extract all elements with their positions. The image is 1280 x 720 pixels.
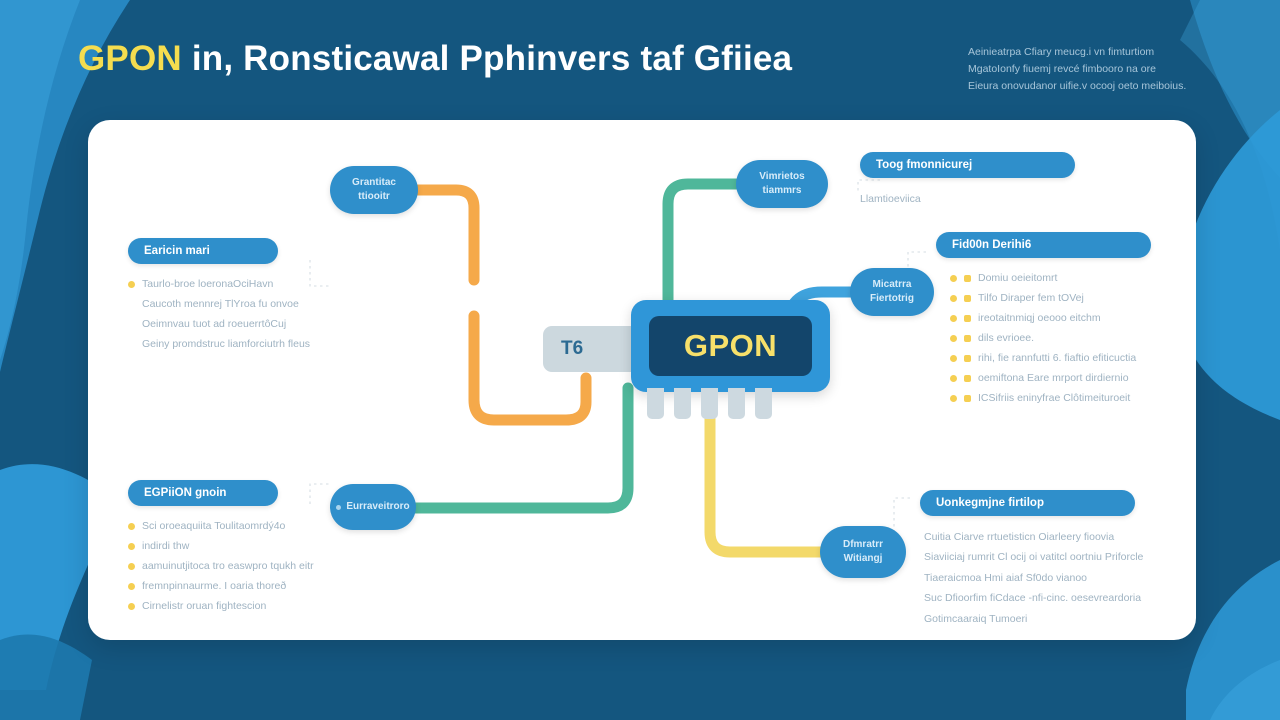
card-line-text: Tilfo Diraper fem tOVej bbox=[978, 289, 1084, 309]
card-top-right-heading: Fid00n Derihi6 bbox=[936, 232, 1151, 258]
card-line: indirdi thw bbox=[128, 537, 314, 557]
page-title: GPON in, Ronsticawal Pphinvers taf Gfiie… bbox=[78, 38, 938, 80]
diagram-panel: Earicin mari Taurlo-broe loeronaOciHavn … bbox=[88, 120, 1196, 640]
node-top-line-1: Vimrietos bbox=[759, 170, 804, 185]
card-line-text: Taurlo-broe loeronaOciHavn bbox=[142, 275, 273, 295]
card-line-text: rihi, fie rannfutti 6. fiaftio efiticuct… bbox=[978, 349, 1136, 369]
node-top-line-2: tiammrs bbox=[763, 184, 802, 199]
bullet-square-icon bbox=[964, 355, 971, 362]
card-line: Taurlo-broe loeronaOciHavn bbox=[128, 275, 310, 295]
card-line-text: indirdi thw bbox=[142, 537, 189, 557]
card-line: aamuinutjitoca tro easwpro tqukh eitr bbox=[128, 557, 314, 577]
dotted-card-bottom-right bbox=[894, 498, 910, 536]
bullet-dot-icon bbox=[950, 275, 957, 282]
node-bottom-right[interactable]: Dfmratrr Witiangj bbox=[820, 526, 906, 578]
device-screen-label: GPON bbox=[684, 328, 777, 364]
card-line-text: Suc Dfioorfim fiCdace -nfi-cinc. oesevre… bbox=[924, 588, 1143, 608]
device-port bbox=[755, 388, 772, 419]
node-bottom-left[interactable]: Eurraveitroro bbox=[330, 484, 416, 530]
card-top-left-body: Taurlo-broe loeronaOciHavn Caucoth mennr… bbox=[128, 275, 310, 355]
bullet-square-icon bbox=[964, 275, 971, 282]
card-line-text: aamuinutjitoca tro easwpro tqukh eitr bbox=[142, 557, 314, 577]
card-line: ireotaitnmiqj oeooo eitchm bbox=[950, 309, 1151, 329]
device-ports bbox=[647, 388, 772, 419]
page-title-rest: in, Ronsticawal Pphinvers taf Gfiiea bbox=[192, 39, 792, 78]
card-top-far-body: Llamtioeviica bbox=[860, 189, 1075, 209]
bullet-dot-icon bbox=[128, 543, 135, 550]
card-line-text: Caucoth mennrej TlYroa fu onvoe bbox=[142, 295, 299, 315]
card-top-far[interactable]: Toog fmonnicurej Llamtioeviica bbox=[860, 152, 1075, 209]
bullet-dot-icon bbox=[950, 295, 957, 302]
card-top-left-heading: Earicin mari bbox=[128, 238, 278, 264]
node-right-line-1: Micatrra bbox=[873, 278, 912, 293]
card-line-text: oemiftona Eare mrport dirdiernio bbox=[978, 369, 1129, 389]
card-top-far-heading: Toog fmonnicurej bbox=[860, 152, 1075, 178]
card-line: dils evrioee. bbox=[950, 329, 1151, 349]
card-line-text: Sci oroeaquiita Toulitaomrdý4o bbox=[142, 517, 285, 537]
card-bottom-right[interactable]: Uonkegmjne firtilop Cuitia Ciarve rrtuet… bbox=[920, 490, 1143, 629]
card-line: Domiu oeieitomrt bbox=[950, 269, 1151, 289]
bullet-dot-icon bbox=[950, 315, 957, 322]
card-line: Geiny promdstruc liamforciutrh fleus bbox=[128, 335, 310, 355]
card-bottom-right-body: Cuitia Ciarve rrtuetisticn Oiarleery fio… bbox=[920, 527, 1143, 629]
card-line-text: Siaviiciaj rumrit Cl ocij oi vatitcl oor… bbox=[924, 547, 1143, 567]
card-top-right[interactable]: Fid00n Derihi6 Domiu oeieitomrt Tilfo Di… bbox=[936, 232, 1151, 409]
card-line: ICSifriis eninyfrae Clôtimeituroeit bbox=[950, 389, 1151, 409]
card-line-text: Oeimnvau tuot ad roeuerrtôCuj bbox=[142, 315, 286, 335]
card-line-text: ireotaitnmiqj oeooo eitchm bbox=[978, 309, 1101, 329]
card-line-text: Geiny promdstruc liamforciutrh fleus bbox=[142, 335, 310, 355]
bullet-square-icon bbox=[964, 395, 971, 402]
bullet-square-icon bbox=[964, 375, 971, 382]
node-right-line-2: Fiertotrig bbox=[870, 292, 914, 307]
card-line-text: Domiu oeieitomrt bbox=[978, 269, 1057, 289]
card-line: Cirnelistr oruan fightescion bbox=[128, 597, 314, 617]
bullet-dot-icon bbox=[128, 281, 135, 288]
card-line-text: ICSifriis eninyfrae Clôtimeituroeit bbox=[978, 389, 1130, 409]
dotted-card-top-left bbox=[310, 260, 332, 286]
bullet-square-icon bbox=[964, 315, 971, 322]
device-port bbox=[647, 388, 664, 419]
device-tab-label: T6 bbox=[561, 338, 583, 360]
node-bottom-right-line-1: Dfmratrr bbox=[843, 538, 883, 553]
card-line-text: Gotimcaaraiq Tumoeri bbox=[924, 609, 1143, 629]
slide-canvas: GPON in, Ronsticawal Pphinvers taf Gfiie… bbox=[0, 0, 1280, 720]
header-note-line-2: MgatoIonfy fiuemj revcé fimbooro na ore bbox=[968, 61, 1238, 78]
card-bottom-left-heading: EGPiiON gnoin bbox=[128, 480, 278, 506]
card-line: oemiftona Eare mrport dirdiernio bbox=[950, 369, 1151, 389]
card-top-left[interactable]: Earicin mari Taurlo-broe loeronaOciHavn … bbox=[128, 238, 310, 355]
card-line-text: Tiaeraicmoa Hmi aiaf Sf0do vianoo bbox=[924, 568, 1143, 588]
card-line-text: Cuitia Ciarve rrtuetisticn Oiarleery fio… bbox=[924, 527, 1143, 547]
card-line: fremnpinnaurme. I oaria thoreð bbox=[128, 577, 314, 597]
bullet-dot-icon bbox=[128, 583, 135, 590]
device-screen: GPON bbox=[649, 316, 812, 376]
card-bottom-right-heading: Uonkegmjne firtilop bbox=[920, 490, 1135, 516]
card-line: rihi, fie rannfutti 6. fiaftio efiticuct… bbox=[950, 349, 1151, 369]
card-line-text: Cirnelistr oruan fightescion bbox=[142, 597, 266, 617]
card-bottom-left-body: Sci oroeaquiita Toulitaomrdý4o indirdi t… bbox=[128, 517, 314, 617]
bullet-dot-icon bbox=[950, 395, 957, 402]
card-line-text: fremnpinnaurme. I oaria thoreð bbox=[142, 577, 286, 597]
node-bullet-icon bbox=[336, 505, 341, 510]
card-line: Sci oroeaquiita Toulitaomrdý4o bbox=[128, 517, 314, 537]
bullet-spacer-icon bbox=[128, 341, 135, 348]
card-line: Tilfo Diraper fem tOVej bbox=[950, 289, 1151, 309]
bullet-spacer-icon bbox=[128, 301, 135, 308]
header-note: Aeinieatrpa Cfiary meucg.i vn fimturtiom… bbox=[968, 44, 1238, 95]
bullet-spacer-icon bbox=[128, 321, 135, 328]
node-left-line-2: ttiooitr bbox=[358, 190, 390, 205]
bullet-dot-icon bbox=[128, 523, 135, 530]
bullet-square-icon bbox=[964, 295, 971, 302]
card-line-text: dils evrioee. bbox=[978, 329, 1034, 349]
node-left[interactable]: Grantitac ttiooitr bbox=[330, 166, 418, 214]
device-port bbox=[674, 388, 691, 419]
page-title-accent: GPON bbox=[78, 39, 182, 78]
device-port bbox=[701, 388, 718, 419]
card-top-right-body: Domiu oeieitomrt Tilfo Diraper fem tOVej… bbox=[936, 269, 1151, 409]
bullet-dot-icon bbox=[128, 563, 135, 570]
node-top[interactable]: Vimrietos tiammrs bbox=[736, 160, 828, 208]
header-note-line-3: Eieura onovudanor uifie.v ocooj oeto mei… bbox=[968, 78, 1238, 95]
device-port bbox=[728, 388, 745, 419]
card-line-text: Llamtioeviica bbox=[860, 189, 1075, 209]
bullet-dot-icon bbox=[950, 375, 957, 382]
node-right[interactable]: Micatrra Fiertotrig bbox=[850, 268, 934, 316]
bullet-dot-icon bbox=[950, 335, 957, 342]
header: GPON in, Ronsticawal Pphinvers taf Gfiie… bbox=[78, 38, 938, 80]
device-body: GPON bbox=[631, 300, 830, 392]
card-line: Caucoth mennrej TlYroa fu onvoe bbox=[128, 295, 310, 315]
node-left-line-1: Grantitac bbox=[352, 176, 396, 191]
node-bottom-left-line-1: Eurraveitroro bbox=[346, 500, 409, 515]
bullet-square-icon bbox=[964, 335, 971, 342]
bullet-dot-icon bbox=[950, 355, 957, 362]
bullet-dot-icon bbox=[128, 603, 135, 610]
header-note-line-1: Aeinieatrpa Cfiary meucg.i vn fimturtiom bbox=[968, 44, 1238, 61]
card-line: Oeimnvau tuot ad roeuerrtôCuj bbox=[128, 315, 310, 335]
card-bottom-left[interactable]: EGPiiON gnoin Sci oroeaquiita Toulitaomr… bbox=[128, 480, 314, 617]
wire-green-bottom bbox=[406, 388, 628, 508]
node-bottom-right-line-2: Witiangj bbox=[844, 552, 883, 567]
